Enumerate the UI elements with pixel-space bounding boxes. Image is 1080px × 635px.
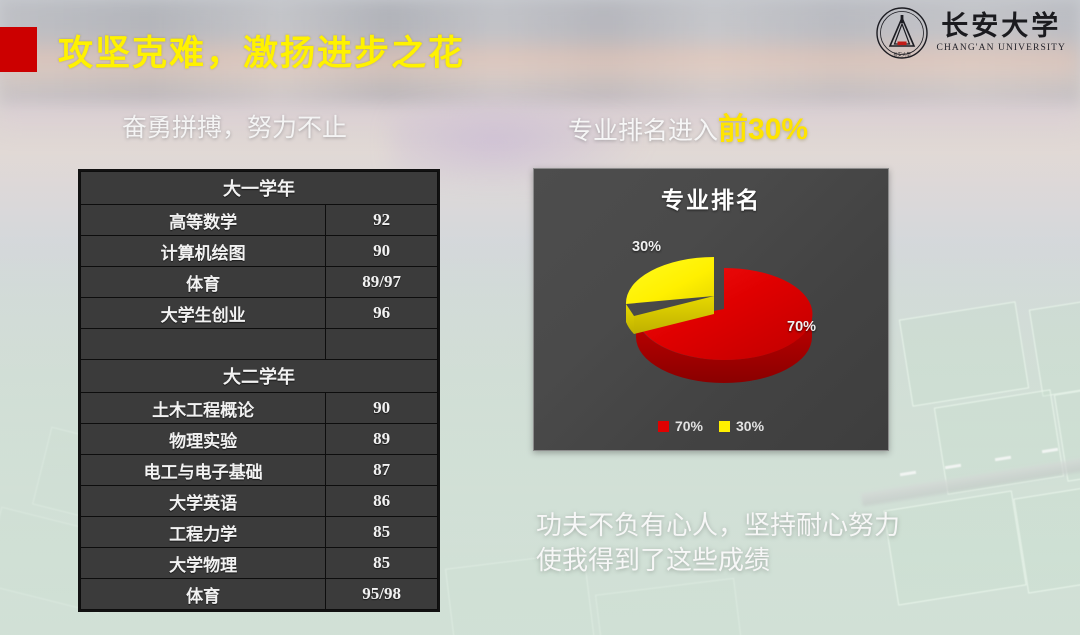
table-row: 大学英语86 bbox=[81, 486, 438, 517]
table-cell-score: 86 bbox=[326, 486, 438, 517]
logo-name-cn: 长安大学 bbox=[941, 13, 1061, 40]
legend-swatch-yellow bbox=[719, 421, 730, 432]
table-cell-score: 89/97 bbox=[326, 267, 438, 298]
table-cell-subject: 高等数学 bbox=[81, 205, 326, 236]
title-accent-square bbox=[0, 27, 37, 72]
university-logo: 長安大學 长安大学 CHANG'AN UNIVERSITY bbox=[875, 6, 1066, 60]
table-cell-subject: 大学生创业 bbox=[81, 298, 326, 329]
table-row: 体育89/97 bbox=[81, 267, 438, 298]
legend-label-70: 70% bbox=[675, 418, 703, 434]
table-cell-score: 85 bbox=[326, 548, 438, 579]
table-cell-score: 95/98 bbox=[326, 579, 438, 610]
subheading-right-highlight: 前30% bbox=[718, 113, 808, 146]
table-cell-subject: 电工与电子基础 bbox=[81, 455, 326, 486]
logo-text-block: 长安大学 CHANG'AN UNIVERSITY bbox=[937, 13, 1066, 53]
table-row: 电工与电子基础87 bbox=[81, 455, 438, 486]
table-cell-subject: 体育 bbox=[81, 579, 326, 610]
university-seal-icon: 長安大學 bbox=[875, 6, 929, 60]
table-row: 体育95/98 bbox=[81, 579, 438, 610]
table-year-header: 大一学年 bbox=[81, 172, 438, 205]
table-year-header: 大二学年 bbox=[81, 360, 438, 393]
table-cell-subject: 大学物理 bbox=[81, 548, 326, 579]
table-row: 大一学年 bbox=[81, 172, 438, 205]
table-row: 大二学年 bbox=[81, 360, 438, 393]
grades-table: 大一学年高等数学92计算机绘图90体育89/97大学生创业96大二学年土木工程概… bbox=[78, 169, 440, 612]
table-cell-score: 96 bbox=[326, 298, 438, 329]
logo-name-en: CHANG'AN UNIVERSITY bbox=[937, 43, 1066, 53]
table-cell-subject: 物理实验 bbox=[81, 424, 326, 455]
table-row: 计算机绘图90 bbox=[81, 236, 438, 267]
table-cell-subject: 体育 bbox=[81, 267, 326, 298]
table-cell-score: 90 bbox=[326, 236, 438, 267]
table-cell-score: 85 bbox=[326, 517, 438, 548]
table-cell-subject bbox=[81, 329, 326, 360]
table-cell-subject: 大学英语 bbox=[81, 486, 326, 517]
pie-label-70: 70% bbox=[787, 319, 816, 335]
subheading-right-prefix: 专业排名进入 bbox=[568, 117, 718, 145]
table-cell-score: 87 bbox=[326, 455, 438, 486]
chart-legend: 70% 30% bbox=[534, 418, 888, 434]
subheading-right: 专业排名进入前30% bbox=[568, 104, 808, 148]
table-cell-score: 92 bbox=[326, 205, 438, 236]
page-title: 攻坚克难，激扬进步之花 bbox=[58, 25, 465, 76]
table-cell-subject: 工程力学 bbox=[81, 517, 326, 548]
table-cell-score: 89 bbox=[326, 424, 438, 455]
table-cell-subject: 土木工程概论 bbox=[81, 393, 326, 424]
legend-label-30: 30% bbox=[736, 418, 764, 434]
table-row: 大学生创业96 bbox=[81, 298, 438, 329]
table-cell-score: 90 bbox=[326, 393, 438, 424]
table-cell-score bbox=[326, 329, 438, 360]
table-row: 工程力学85 bbox=[81, 517, 438, 548]
svg-text:長安大學: 長安大學 bbox=[893, 51, 911, 58]
legend-swatch-red bbox=[658, 421, 669, 432]
table-row: 大学物理85 bbox=[81, 548, 438, 579]
slide-canvas: 攻坚克难，激扬进步之花 長安大學 长安大学 CHANG'AN UNIVERSIT… bbox=[0, 0, 1080, 635]
table-row bbox=[81, 329, 438, 360]
pie-label-30: 30% bbox=[632, 239, 661, 255]
closing-caption: 功夫不负有心人，坚持耐心努力 使我得到了这些成绩 bbox=[536, 508, 900, 578]
subheading-left: 奋勇拼搏，努力不止 bbox=[122, 108, 347, 144]
legend-item-30: 30% bbox=[719, 418, 764, 434]
table-row: 物理实验89 bbox=[81, 424, 438, 455]
legend-item-70: 70% bbox=[658, 418, 703, 434]
table-cell-subject: 计算机绘图 bbox=[81, 236, 326, 267]
chart-title: 专业排名 bbox=[534, 181, 888, 215]
caption-line-2: 使我得到了这些成绩 bbox=[536, 543, 900, 578]
pie-chart-panel: 专业排名 bbox=[533, 168, 889, 451]
table-row: 高等数学92 bbox=[81, 205, 438, 236]
caption-line-1: 功夫不负有心人，坚持耐心努力 bbox=[536, 508, 900, 543]
pie-chart-graphic: 30% 70% bbox=[534, 221, 890, 401]
table-row: 土木工程概论90 bbox=[81, 393, 438, 424]
